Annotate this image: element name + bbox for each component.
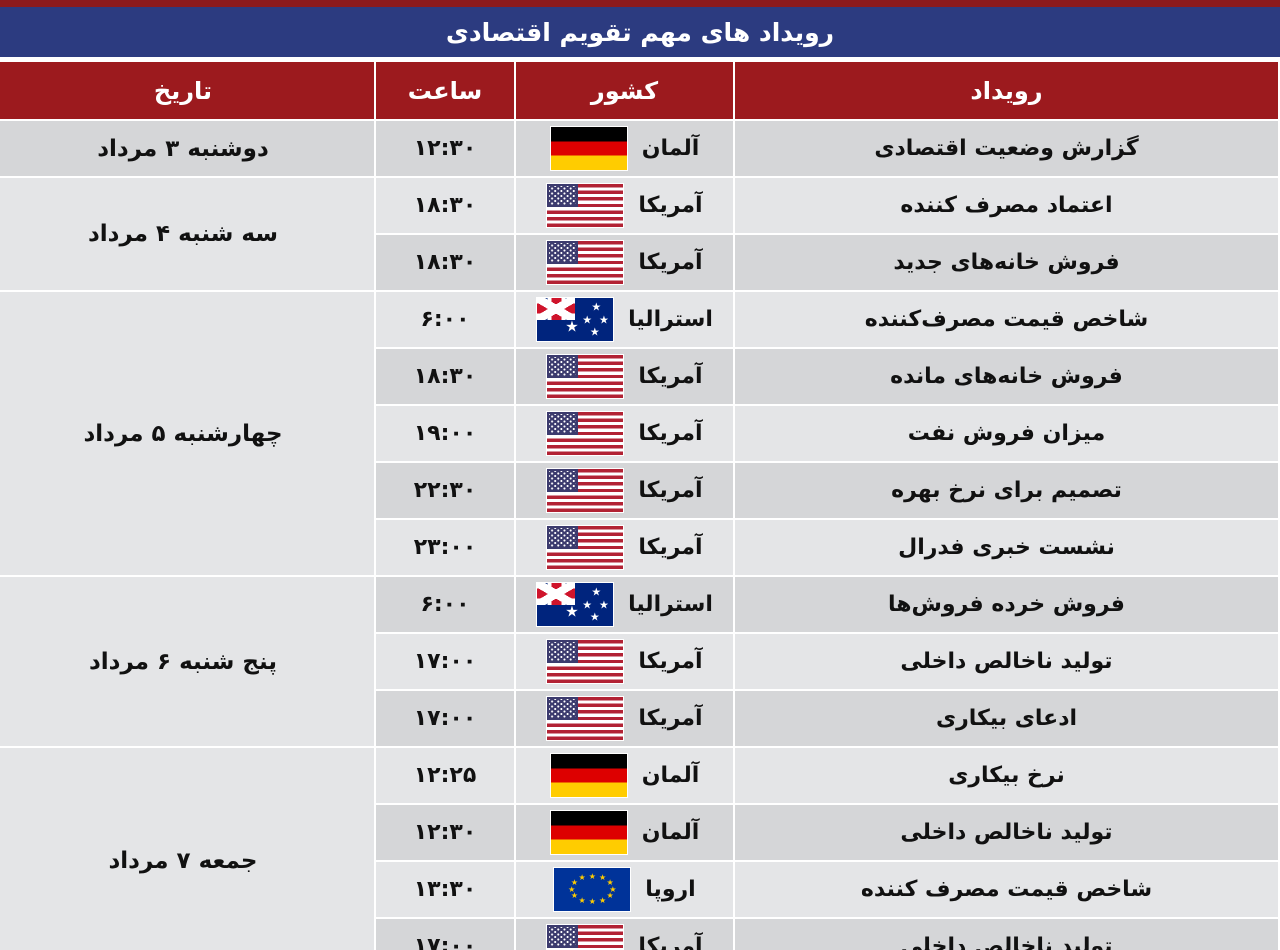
country-cell: آلمان [516, 805, 733, 860]
country-label: آلمان [642, 820, 700, 845]
country-cell: اروپا★★★★★★★★★★★★ [516, 862, 733, 917]
column-header-event: رویداد [735, 62, 1278, 119]
country-inner: آمریکا [516, 354, 733, 399]
time-cell: ۲۳:۰۰ [376, 520, 514, 575]
time-cell: ۲۲:۳۰ [376, 463, 514, 518]
germany-flag [550, 810, 628, 855]
event-cell: تولید ناخالص داخلی [735, 919, 1278, 950]
date-cell: پنج شنبه ۶ مرداد [0, 577, 374, 746]
country-cell: آمریکا [516, 178, 733, 233]
event-cell: اعتماد مصرف کننده [735, 178, 1278, 233]
germany-flag [550, 753, 628, 798]
country-inner: آلمان [516, 810, 733, 855]
event-cell: میزان فروش نفت [735, 406, 1278, 461]
country-cell: آمریکا [516, 463, 733, 518]
country-cell: آمریکا [516, 235, 733, 290]
country-inner: آمریکا [516, 240, 733, 285]
country-cell: استرالیا★★★★★ [516, 292, 733, 347]
time-cell: ۱۸:۳۰ [376, 349, 514, 404]
usa-flag [546, 468, 624, 513]
country-inner: آلمان [516, 126, 733, 171]
country-inner: آلمان [516, 753, 733, 798]
table-row[interactable]: گزارش وضعیت اقتصادیآلمان۱۲:۳۰دوشنبه ۳ مر… [0, 121, 1278, 176]
country-label: استرالیا [628, 307, 713, 332]
event-cell: شاخص قیمت مصرف کننده [735, 862, 1278, 917]
usa-flag [546, 411, 624, 456]
usa-flag [546, 525, 624, 570]
country-label: آمریکا [638, 934, 702, 950]
country-label: آمریکا [638, 649, 702, 674]
country-label: آمریکا [638, 421, 702, 446]
country-inner: آمریکا [516, 525, 733, 570]
country-inner: آمریکا [516, 696, 733, 741]
column-header-time: ساعت [376, 62, 514, 119]
time-cell: ۱۷:۰۰ [376, 919, 514, 950]
usa-flag [546, 183, 624, 228]
page-title: رویداد های مهم تقویم اقتصادی [0, 7, 1280, 60]
event-cell: تولید ناخالص داخلی [735, 805, 1278, 860]
germany-flag [550, 126, 628, 171]
event-cell: فروش خانه‌های مانده [735, 349, 1278, 404]
usa-flag [546, 240, 624, 285]
australia-flag: ★★★★★ [536, 582, 614, 627]
usa-flag [546, 639, 624, 684]
usa-flag [546, 354, 624, 399]
country-cell: آمریکا [516, 520, 733, 575]
event-cell: فروش خانه‌های جدید [735, 235, 1278, 290]
usa-flag [546, 696, 624, 741]
country-inner: استرالیا★★★★★ [516, 297, 733, 342]
country-cell: آمریکا [516, 919, 733, 950]
table-row[interactable]: فروش خرده فروش‌هااسترالیا★★★★★۶:۰۰پنج شن… [0, 577, 1278, 632]
country-label: استرالیا [628, 592, 713, 617]
time-cell: ۱۸:۳۰ [376, 178, 514, 233]
table-body: گزارش وضعیت اقتصادیآلمان۱۲:۳۰دوشنبه ۳ مر… [0, 121, 1278, 950]
country-cell: آمریکا [516, 634, 733, 689]
eu-flag: ★★★★★★★★★★★★ [553, 867, 631, 912]
country-cell: آلمان [516, 748, 733, 803]
country-label: آمریکا [638, 706, 702, 731]
event-cell: شاخص قیمت مصرف‌کننده [735, 292, 1278, 347]
usa-flag [546, 924, 624, 950]
time-cell: ۱۹:۰۰ [376, 406, 514, 461]
country-label: آمریکا [638, 250, 702, 275]
country-inner: آمریکا [516, 924, 733, 950]
time-cell: ۱۸:۳۰ [376, 235, 514, 290]
country-cell: استرالیا★★★★★ [516, 577, 733, 632]
date-cell: دوشنبه ۳ مرداد [0, 121, 374, 176]
event-cell: تصمیم برای نرخ بهره [735, 463, 1278, 518]
australia-flag: ★★★★★ [536, 297, 614, 342]
country-cell: آمریکا [516, 691, 733, 746]
top-accent-rule [0, 0, 1280, 7]
date-cell: چهارشنبه ۵ مرداد [0, 292, 374, 575]
country-label: آمریکا [638, 193, 702, 218]
country-label: آمریکا [638, 478, 702, 503]
country-label: آمریکا [638, 535, 702, 560]
event-cell: ادعای بیکاری [735, 691, 1278, 746]
table-row[interactable]: شاخص قیمت مصرف‌کنندهاسترالیا★★★★★۶:۰۰چها… [0, 292, 1278, 347]
header-row: رویداد کشور ساعت تاریخ [0, 62, 1278, 119]
time-cell: ۶:۰۰ [376, 292, 514, 347]
country-cell: آمریکا [516, 406, 733, 461]
time-cell: ۱۷:۰۰ [376, 634, 514, 689]
economic-calendar-table: رویداد کشور ساعت تاریخ گزارش وضعیت اقتصا… [0, 60, 1280, 950]
country-label: اروپا [645, 877, 695, 902]
event-cell: تولید ناخالص داخلی [735, 634, 1278, 689]
table-header: رویداد کشور ساعت تاریخ [0, 62, 1278, 119]
country-label: آمریکا [638, 364, 702, 389]
event-cell: نرخ بیکاری [735, 748, 1278, 803]
country-label: آلمان [642, 763, 700, 788]
time-cell: ۱۲:۳۰ [376, 805, 514, 860]
time-cell: ۱۷:۰۰ [376, 691, 514, 746]
country-inner: آمریکا [516, 411, 733, 456]
table-row[interactable]: اعتماد مصرف کنندهآمریکا۱۸:۳۰سه شنبه ۴ مر… [0, 178, 1278, 233]
time-cell: ۱۲:۲۵ [376, 748, 514, 803]
country-inner: آمریکا [516, 639, 733, 684]
column-header-date: تاریخ [0, 62, 374, 119]
country-inner: آمریکا [516, 183, 733, 228]
country-inner: آمریکا [516, 468, 733, 513]
country-cell: آمریکا [516, 349, 733, 404]
country-cell: آلمان [516, 121, 733, 176]
time-cell: ۱۲:۳۰ [376, 121, 514, 176]
event-cell: نشست خبری فدرال [735, 520, 1278, 575]
time-cell: ۶:۰۰ [376, 577, 514, 632]
table-row[interactable]: نرخ بیکاریآلمان۱۲:۲۵جمعه ۷ مرداد [0, 748, 1278, 803]
country-inner: استرالیا★★★★★ [516, 582, 733, 627]
event-cell: فروش خرده فروش‌ها [735, 577, 1278, 632]
date-cell: سه شنبه ۴ مرداد [0, 178, 374, 290]
country-label: آلمان [642, 136, 700, 161]
column-header-country: کشور [516, 62, 733, 119]
event-cell: گزارش وضعیت اقتصادی [735, 121, 1278, 176]
economic-calendar-page: رویداد های مهم تقویم اقتصادی رویداد کشور… [0, 0, 1280, 950]
time-cell: ۱۳:۳۰ [376, 862, 514, 917]
date-cell: جمعه ۷ مرداد [0, 748, 374, 950]
country-inner: اروپا★★★★★★★★★★★★ [516, 867, 733, 912]
